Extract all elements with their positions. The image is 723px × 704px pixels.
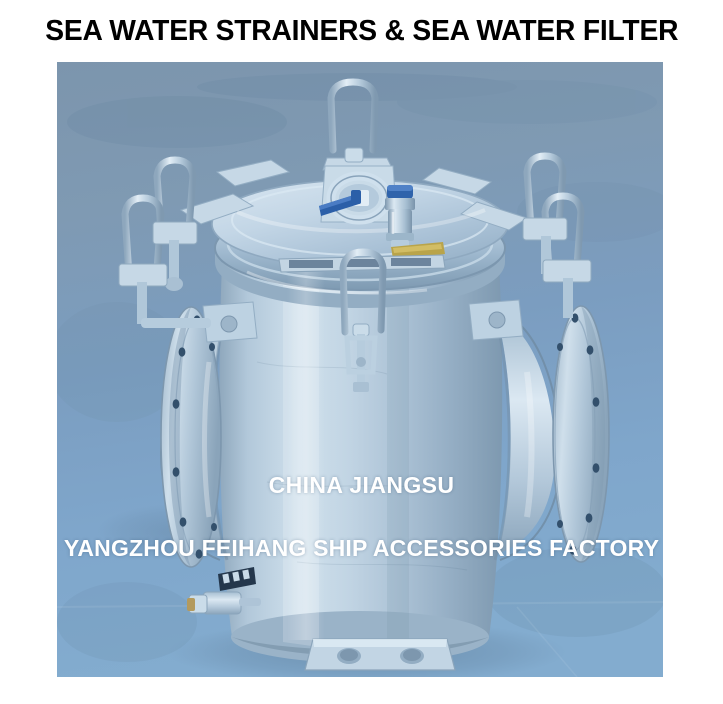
page-title-bar: SEA WATER STRAINERS & SEA WATER FILTER [0,0,723,62]
body-specular-highlight [287,272,325,640]
page-title: SEA WATER STRAINERS & SEA WATER FILTER [45,17,678,46]
body-shell [219,262,502,663]
swing-bolt-back-center [345,148,363,162]
inlet-flange-left [161,307,227,567]
vertical-ball-valve [385,185,415,248]
mounting-foot [305,639,455,670]
product-photo-illustration [57,62,663,677]
product-image-page: SEA WATER STRAINERS & SEA WATER FILTER [0,0,723,704]
product-photo [57,62,663,677]
